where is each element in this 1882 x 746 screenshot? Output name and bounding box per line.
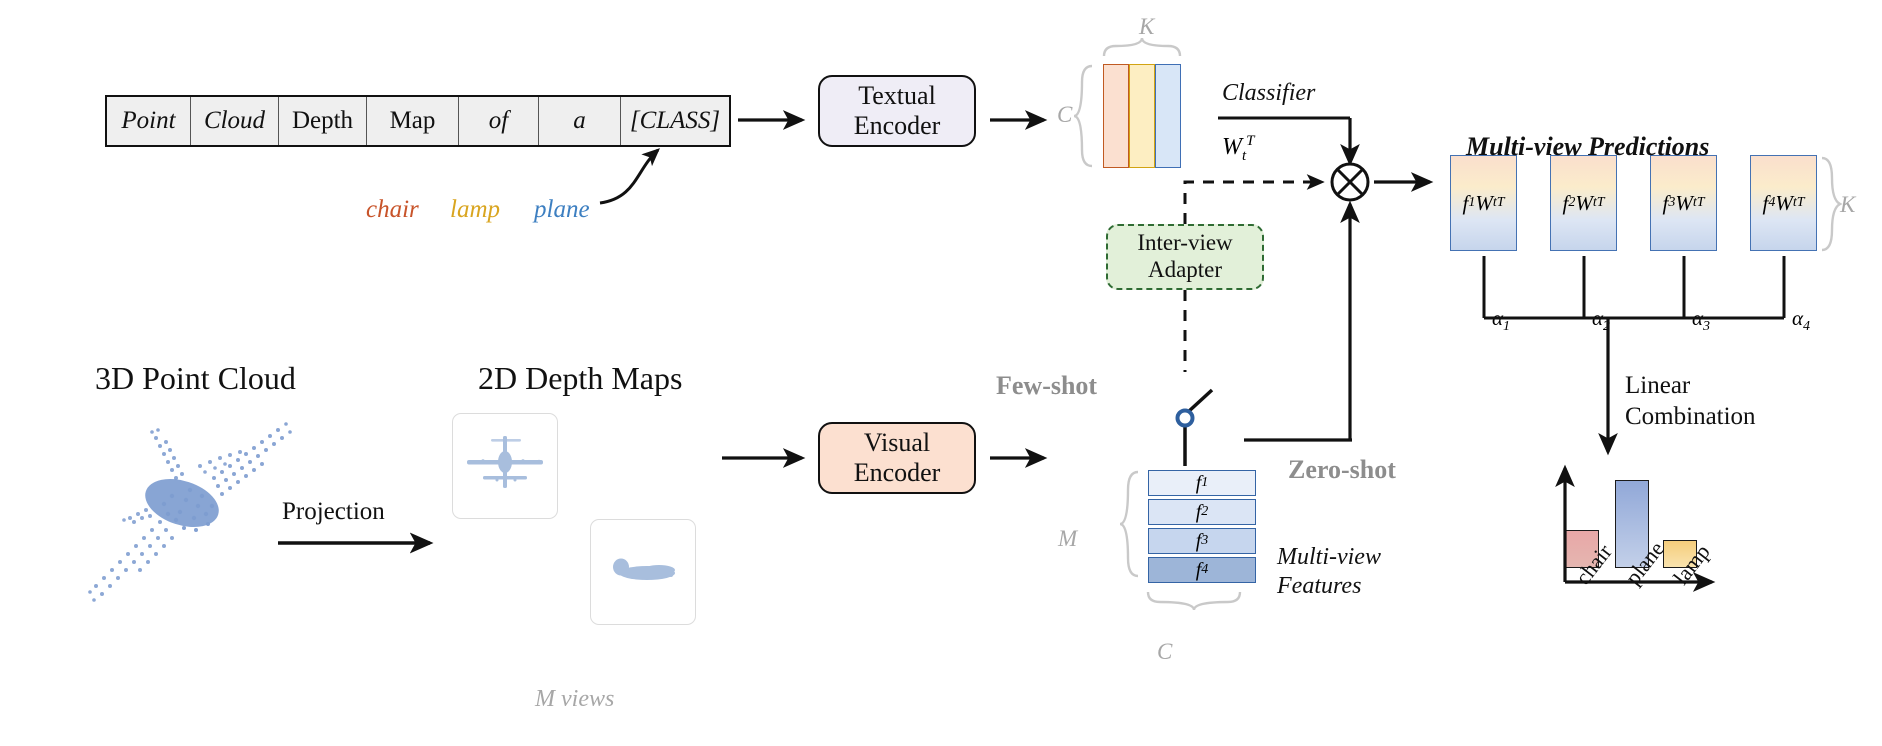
multi-view-features-caption: Multi-view Features — [1277, 543, 1381, 601]
few-shot-dashed-path — [1185, 182, 1322, 224]
prediction-f-sub-1: 1 — [1468, 195, 1475, 211]
linear-combination-line2: Combination — [1625, 401, 1756, 432]
feature-sub-f1: 1 — [1201, 475, 1208, 491]
feature-row-f4: f4 — [1148, 557, 1256, 583]
depth-map-side-view-icon — [591, 520, 696, 625]
visual-encoder-line1: Visual — [864, 428, 930, 458]
m-views-caption: M views — [535, 686, 614, 713]
textual-encoder-line1: Textual — [858, 81, 936, 111]
prediction-w-sup-4: T — [1797, 195, 1805, 211]
prediction-f-sub-3: 3 — [1668, 195, 1675, 211]
prediction-f-sub-2: 2 — [1568, 195, 1575, 211]
classifier-c-brace — [1074, 66, 1092, 166]
few-shot-label: Few-shot — [996, 371, 1097, 401]
visual-encoder-box[interactable]: Visual Encoder — [818, 422, 976, 494]
classifier-formula-sub: t — [1242, 148, 1246, 164]
alpha-sub-4: 4 — [1803, 319, 1810, 334]
switch-pivot[interactable] — [1178, 411, 1193, 426]
feature-sub-f4: 4 — [1201, 562, 1208, 578]
prediction-box-3: f3WtT — [1650, 155, 1717, 251]
feature-row-f1: f1 — [1148, 470, 1256, 496]
alpha-label-2: α2 — [1592, 306, 1610, 335]
features-brace-bottom-label: C — [1157, 639, 1172, 665]
feature-sub-f2: 2 — [1201, 504, 1208, 520]
multiply-slash-1 — [1338, 170, 1362, 194]
alpha-label-3: α3 — [1692, 306, 1710, 335]
figure-canvas: Point Cloud Depth Map of a [CLASS] chair… — [0, 0, 1882, 746]
alpha-label-4: α4 — [1792, 306, 1810, 335]
depth-map-tile-2 — [590, 519, 696, 625]
alpha-glyph-4: α — [1792, 306, 1803, 330]
prediction-w-sup-2: T — [1597, 195, 1605, 211]
alpha-sub-3: 3 — [1703, 319, 1710, 334]
features-caption-line2: Features — [1277, 572, 1381, 601]
alpha-glyph-3: α — [1692, 306, 1703, 330]
prompt-token-of: of — [459, 97, 539, 145]
class-word-chair: chair — [366, 196, 419, 224]
alpha-label-1: α1 — [1492, 306, 1510, 335]
alpha-sub-2: 2 — [1603, 319, 1610, 334]
prompt-token-class: [CLASS] — [621, 97, 729, 145]
classifier-formula-sup: T — [1246, 133, 1254, 149]
alpha-glyph-1: α — [1492, 306, 1503, 330]
prompt-token-a: a — [539, 97, 621, 145]
projection-label: Projection — [282, 498, 385, 526]
classifier-column-chair — [1103, 64, 1129, 168]
adapter-line1: Inter-view — [1137, 230, 1232, 257]
feature-sub-f3: 3 — [1201, 533, 1208, 549]
depth-maps-title: 2D Depth Maps — [478, 360, 682, 397]
prediction-w-1: W — [1475, 191, 1493, 216]
textual-encoder-line2: Encoder — [854, 111, 941, 141]
prompt-token-cloud: Cloud — [191, 97, 279, 145]
multi-view-predictions-title: Multi-view Predictions — [1466, 132, 1709, 162]
multiply-node-circle — [1332, 164, 1368, 200]
features-c-brace — [1148, 592, 1240, 610]
depth-map-front-view-icon — [453, 414, 558, 519]
prompt-token-depth: Depth — [279, 97, 367, 145]
alpha-sub-1: 1 — [1503, 319, 1510, 334]
classifier-column-plane — [1155, 64, 1181, 168]
feature-row-f2: f2 — [1148, 499, 1256, 525]
classifier-column-lamp — [1129, 64, 1155, 168]
prediction-w-sup-1: T — [1497, 195, 1505, 211]
zero-shot-label: Zero-shot — [1288, 455, 1396, 485]
classifier-brace-left-label: C — [1057, 102, 1072, 128]
class-word-plane: plane — [534, 196, 590, 224]
prediction-box-4: f4WtT — [1750, 155, 1817, 251]
class-injection-arrow — [600, 150, 658, 203]
prediction-w-2: W — [1575, 191, 1593, 216]
classifier-title: Classifier — [1222, 80, 1315, 107]
prediction-w-3: W — [1675, 191, 1693, 216]
switch-lever — [1188, 390, 1212, 412]
prompt-token-point: Point — [107, 97, 191, 145]
classifier-formula-base: W — [1222, 134, 1242, 160]
features-m-brace — [1120, 472, 1138, 576]
classifier-matrix — [1103, 64, 1181, 168]
inter-view-adapter-box[interactable]: Inter-view Adapter — [1106, 224, 1264, 290]
feature-row-f3: f3 — [1148, 528, 1256, 554]
multi-view-feature-stack: f1 f2 f3 f4 — [1148, 470, 1256, 586]
predictions-brace-right-label: K — [1840, 192, 1855, 218]
multiply-slash-2 — [1338, 170, 1362, 194]
features-brace-left-label: M — [1058, 526, 1077, 552]
prediction-w-4: W — [1775, 191, 1793, 216]
prediction-box-1: f1WtT — [1450, 155, 1517, 251]
point-cloud-airplane — [88, 422, 292, 602]
classifier-formula: WtT — [1222, 133, 1255, 165]
alpha-glyph-2: α — [1592, 306, 1603, 330]
prompt-token-row: Point Cloud Depth Map of a [CLASS] — [105, 95, 731, 147]
adapter-line2: Adapter — [1148, 257, 1222, 284]
predictions-k-brace — [1822, 158, 1840, 250]
depth-map-tile-1 — [452, 413, 558, 519]
textual-encoder-box[interactable]: Textual Encoder — [818, 75, 976, 147]
visual-encoder-line2: Encoder — [854, 458, 941, 488]
prediction-box-2: f2WtT — [1550, 155, 1617, 251]
point-cloud-title: 3D Point Cloud — [95, 360, 296, 397]
classifier-k-brace — [1104, 38, 1180, 56]
linear-combination-line1: Linear — [1625, 370, 1756, 401]
prediction-bar-chart: chair plane lamp — [1530, 460, 1710, 590]
linear-combination-label: Linear Combination — [1625, 370, 1756, 433]
prediction-w-sup-3: T — [1697, 195, 1705, 211]
class-word-lamp: lamp — [450, 196, 500, 224]
prediction-f-sub-4: 4 — [1768, 195, 1775, 211]
features-caption-line1: Multi-view — [1277, 543, 1381, 572]
prompt-token-map: Map — [367, 97, 459, 145]
classifier-brace-top-label: K — [1139, 14, 1154, 40]
